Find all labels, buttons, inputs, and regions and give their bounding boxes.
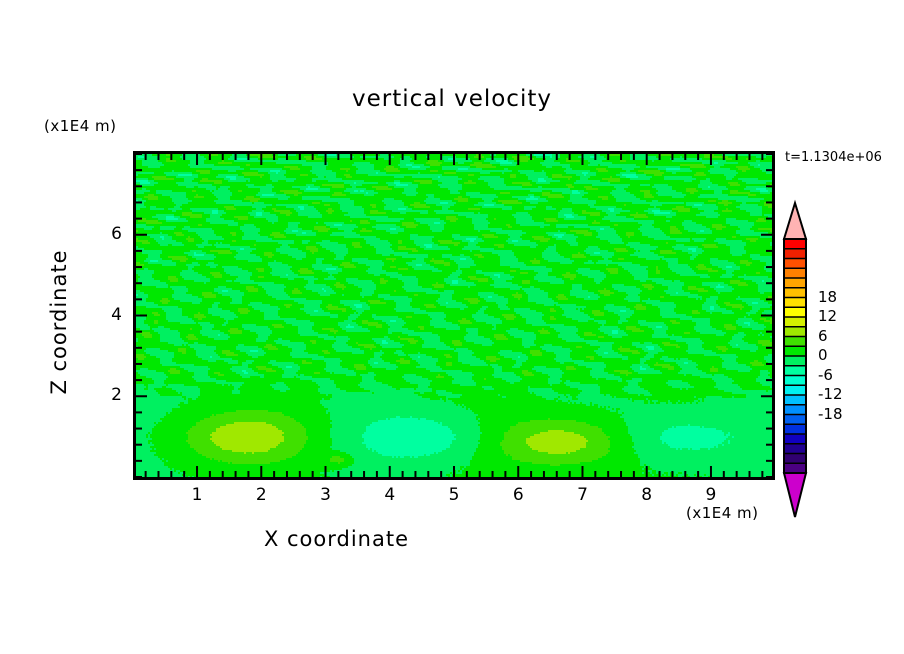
- colorbar-tick-label: 0: [818, 346, 828, 364]
- x-tick-label: 7: [562, 485, 602, 505]
- contour-plot: [0, 0, 904, 654]
- colorbar-tick-label: 12: [818, 307, 837, 325]
- y-tick-label: 4: [90, 305, 122, 325]
- colorbar-tick-label: -18: [818, 405, 843, 423]
- x-tick-label: 1: [177, 485, 217, 505]
- y-tick-label: 6: [90, 224, 122, 244]
- x-tick-label: 9: [691, 485, 731, 505]
- colorbar-tick-label: -6: [818, 366, 833, 384]
- x-tick-label: 4: [370, 485, 410, 505]
- colorbar-tick-label: 6: [818, 327, 828, 345]
- x-tick-label: 3: [306, 485, 346, 505]
- colorbar-tick-label: -12: [818, 385, 843, 403]
- x-tick-label: 6: [498, 485, 538, 505]
- x-tick-label: 8: [627, 485, 667, 505]
- x-tick-label: 2: [241, 485, 281, 505]
- x-tick-label: 5: [434, 485, 474, 505]
- colorbar-tick-label: 18: [818, 288, 837, 306]
- figure-canvas: vertical velocity (x1E4 m) (x1E4 m) X co…: [0, 0, 904, 654]
- y-tick-label: 2: [90, 385, 122, 405]
